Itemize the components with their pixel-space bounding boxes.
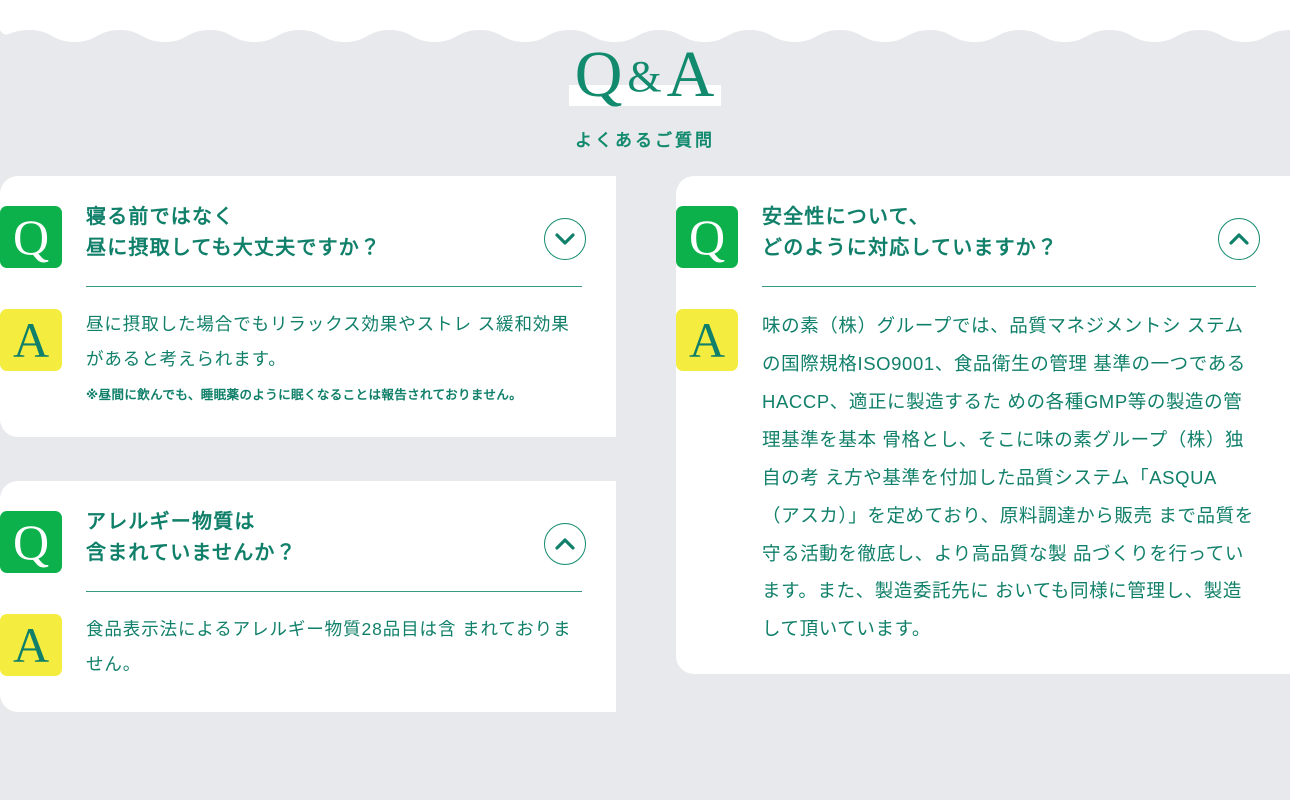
answer-badge: A xyxy=(0,614,62,676)
page-header: Q&A よくあるご質問 xyxy=(0,42,1290,151)
card-divider xyxy=(86,286,582,287)
answer-body: 味の素（株）グループでは、品質マネジメントシ ステムの国際規格ISO9001、食… xyxy=(722,307,1256,648)
faq-column-left: Q 寝る前ではなく 昼に摂取しても大丈夫ですか？ A xyxy=(0,176,616,756)
question-body: 寝る前ではなく 昼に摂取しても大丈夫ですか？ xyxy=(46,202,582,264)
answer-badge: A xyxy=(676,309,738,371)
question-line: アレルギー物質は xyxy=(86,507,512,538)
answer-line: 味の素（株）グループでは、品質マネジメントシ xyxy=(762,315,1181,336)
question-badge: Q xyxy=(0,206,62,268)
question-text: アレルギー物質は 含まれていませんか？ xyxy=(86,507,582,569)
answer-body: 食品表示法によるアレルギー物質28品目は含 まれておりません。 xyxy=(46,612,582,682)
question-body: アレルギー物質は 含まれていませんか？ xyxy=(46,507,582,569)
answer-note: ※昼間に飲んでも、睡眠薬のように眠くなることは報告されておりません。 xyxy=(86,383,582,407)
page-subtitle: よくあるご質問 xyxy=(0,126,1290,151)
faq-card[interactable]: Q 寝る前ではなく 昼に摂取しても大丈夫ですか？ A xyxy=(0,176,616,437)
chevron-down-icon[interactable] xyxy=(544,218,586,260)
question-line: どのように対応していますか？ xyxy=(762,233,1186,264)
wavy-top-divider xyxy=(0,0,1290,48)
question-line: 寝る前ではなく xyxy=(86,202,512,233)
faq-answer-row: A 昼に摂取した場合でもリラックス効果やストレ ス緩和効果があると考えられます。… xyxy=(46,307,582,407)
answer-text: 昼に摂取した場合でもリラックス効果やストレ ス緩和効果があると考えられます。 xyxy=(86,307,582,377)
question-badge: Q xyxy=(0,511,62,573)
title-letter-q: Q xyxy=(575,38,624,111)
question-badge: Q xyxy=(676,206,738,268)
title-letter-a: A xyxy=(667,38,716,111)
question-text: 安全性について、 どのように対応していますか？ xyxy=(762,202,1256,264)
question-line: 含まれていませんか？ xyxy=(86,538,512,569)
answer-text: 味の素（株）グループでは、品質マネジメントシ ステムの国際規格ISO9001、食… xyxy=(762,307,1256,648)
page-title: Q&A xyxy=(569,42,722,108)
faq-card[interactable]: Q アレルギー物質は 含まれていませんか？ A xyxy=(0,481,616,712)
answer-text: 食品表示法によるアレルギー物質28品目は含 まれておりません。 xyxy=(86,612,582,682)
faq-answer-row: A 食品表示法によるアレルギー物質28品目は含 まれておりません。 xyxy=(46,612,582,682)
faq-card[interactable]: Q 安全性について、 どのように対応していますか？ A xyxy=(676,176,1290,674)
faq-question-row[interactable]: Q 寝る前ではなく 昼に摂取しても大丈夫ですか？ xyxy=(46,202,582,264)
faq-columns: Q 寝る前ではなく 昼に摂取しても大丈夫ですか？ A xyxy=(0,176,1290,796)
faq-question-row[interactable]: Q 安全性について、 どのように対応していますか？ xyxy=(722,202,1256,264)
question-body: 安全性について、 どのように対応していますか？ xyxy=(722,202,1256,264)
faq-column-right: Q 安全性について、 どのように対応していますか？ A xyxy=(676,176,1290,718)
question-line: 昼に摂取しても大丈夫ですか？ xyxy=(86,233,512,264)
question-line: 安全性について、 xyxy=(762,202,1186,233)
answer-line: （アスカ）」を定めており、原料調達から販売 xyxy=(762,505,1153,526)
card-divider xyxy=(762,286,1256,287)
answer-line: え方や基準を付加した品質システム「ASQUA xyxy=(825,467,1216,488)
answer-body: 昼に摂取した場合でもリラックス効果やストレ ス緩和効果があると考えられます。 ※… xyxy=(46,307,582,407)
answer-line: 食品表示法によるアレルギー物質28品目は含 xyxy=(86,619,456,639)
card-divider xyxy=(86,591,582,592)
answer-badge: A xyxy=(0,309,62,371)
faq-question-row[interactable]: Q アレルギー物質は 含まれていませんか？ xyxy=(46,507,582,569)
question-text: 寝る前ではなく 昼に摂取しても大丈夫ですか？ xyxy=(86,202,582,264)
title-ampersand: & xyxy=(623,52,666,101)
title-text: Q&A xyxy=(569,42,722,108)
chevron-up-icon[interactable] xyxy=(1218,218,1260,260)
answer-line: 昼に摂取した場合でもリラックス効果やストレ xyxy=(86,314,472,334)
faq-answer-row: A 味の素（株）グループでは、品質マネジメントシ ステムの国際規格ISO9001… xyxy=(722,307,1256,648)
